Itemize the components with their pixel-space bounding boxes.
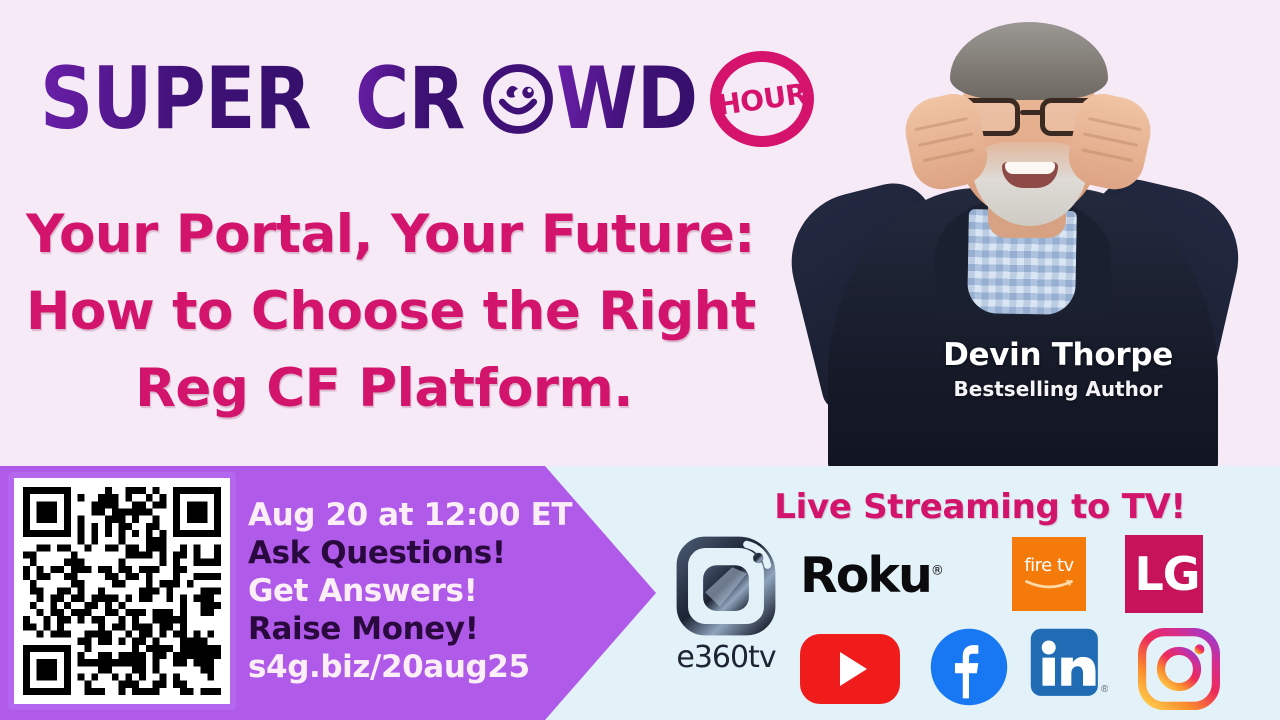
finger-line (1088, 117, 1141, 131)
banner-line-raise: Raise Money! (248, 610, 548, 648)
finger-line (1083, 132, 1138, 147)
qr-code[interactable] (8, 472, 236, 710)
speaker-role: Bestselling Author (908, 374, 1208, 404)
logo-word-cr: CR (355, 56, 465, 142)
instagram-icon (1138, 628, 1220, 710)
title-line-2: How to Choose the Right (26, 273, 742, 350)
glasses-bridge (1020, 110, 1042, 115)
banner-line-date: Aug 20 at 12:00 ET (248, 496, 548, 534)
logo-word-super: SUPER (40, 56, 311, 142)
finger-line (923, 148, 974, 162)
logo-facebook[interactable] (930, 628, 1008, 706)
linkedin-icon: ® (1030, 628, 1108, 706)
lg-label: LG (1134, 551, 1199, 597)
streaming-heading: Live Streaming to TV! (690, 487, 1270, 527)
firetv-label: fire tv (1024, 557, 1073, 575)
title-line-1: Your Portal, Your Future: (26, 196, 742, 273)
e360tv-icon (674, 534, 778, 638)
logo-youtube[interactable] (800, 634, 900, 704)
smiley-face-icon (482, 63, 554, 135)
qr-code-image (23, 487, 221, 695)
photo-teeth (1005, 162, 1055, 174)
logo-linkedin[interactable]: ® (1030, 628, 1108, 706)
finger-line (918, 132, 973, 147)
logo-instagram[interactable] (1138, 628, 1220, 710)
amazon-smile-icon (1024, 577, 1074, 591)
banner-line-ask: Ask Questions! (248, 534, 548, 572)
logo-e360tv[interactable]: e360tv (662, 534, 790, 675)
speaker-info: Devin Thorpe Bestselling Author (908, 336, 1208, 404)
photo-hair (950, 22, 1108, 100)
finger-line (1081, 148, 1132, 162)
logo-word-wd: WD (556, 56, 697, 142)
speaker-photo: Devin Thorpe Bestselling Author (760, 0, 1280, 466)
banner-text-block: Aug 20 at 12:00 ET Ask Questions! Get An… (248, 496, 548, 686)
title-line-3: Reg CF Platform. (26, 350, 742, 427)
supercrowd-hour-logo: SUPER CR WD HOUR (40, 50, 814, 148)
roku-label: Roku (800, 547, 931, 604)
play-icon (840, 652, 867, 686)
logo-roku[interactable]: Roku® (800, 547, 944, 604)
facebook-icon (930, 628, 1008, 706)
banner-line-url[interactable]: s4g.biz/20aug25 (248, 648, 548, 686)
promo-poster: SUPER CR WD HOUR Your Portal, Your Futur… (0, 0, 1280, 720)
logo-firetv[interactable]: fire tv (1012, 537, 1086, 611)
logo-lg[interactable]: LG (1125, 535, 1203, 613)
speaker-name: Devin Thorpe (908, 336, 1208, 374)
banner-line-answers: Get Answers! (248, 572, 548, 610)
roku-trademark: ® (931, 564, 944, 579)
finger-line (914, 117, 967, 131)
svg-text:®: ® (1101, 684, 1108, 695)
event-title: Your Portal, Your Future: How to Choose … (26, 196, 742, 427)
e360tv-label: e360tv (662, 640, 790, 675)
